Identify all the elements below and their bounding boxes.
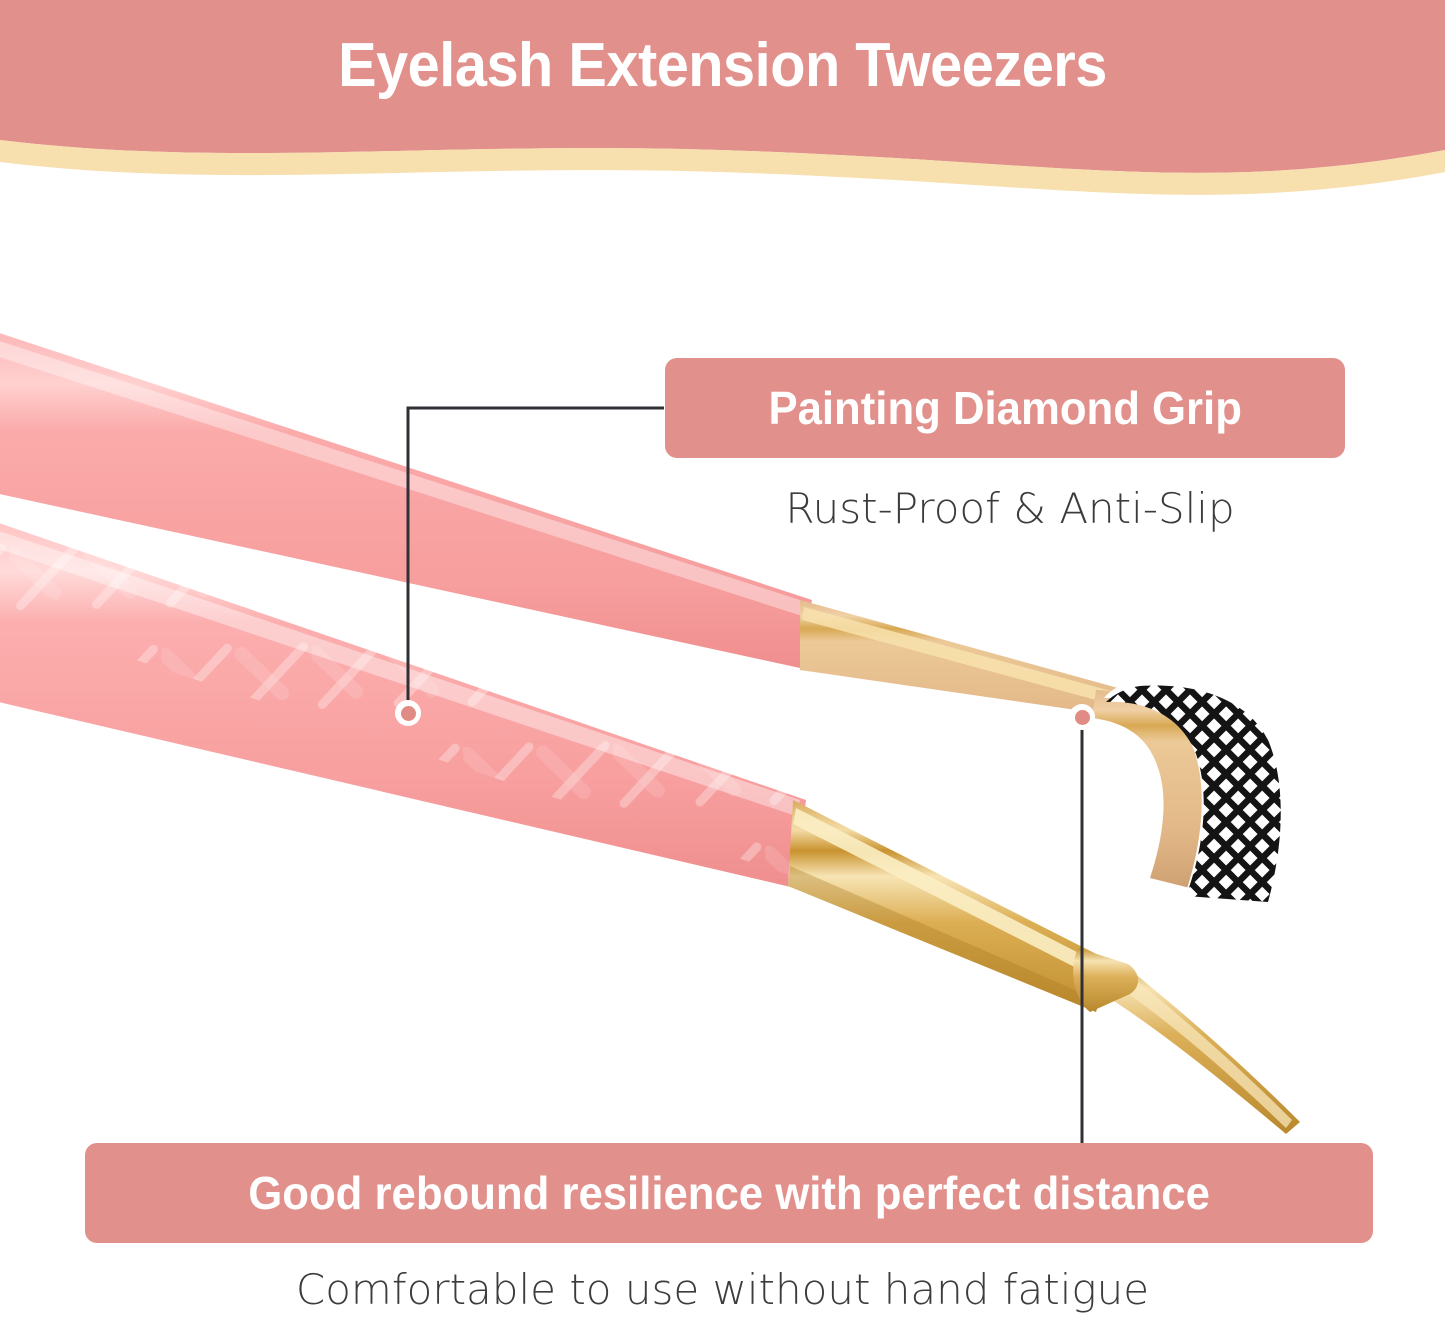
callout-sublabel-rebound: Comfortable to use without hand fatigue [0, 1265, 1445, 1314]
callout-marker-dot-icon [1075, 710, 1090, 725]
callout-pill-rebound: Good rebound resilience with perfect dis… [85, 1143, 1373, 1243]
tweezers-illustration [0, 0, 1445, 1328]
callout-label-rebound: Good rebound resilience with perfect dis… [248, 1166, 1210, 1220]
callout-sublabel-grip: Rust-Proof & Anti-Slip [0, 484, 1445, 533]
callout-marker-dot-icon [401, 706, 416, 721]
callout-marker-rebound[interactable] [1069, 704, 1095, 730]
callout-marker-grip[interactable] [395, 700, 421, 726]
callout-pill-grip: Painting Diamond Grip [665, 358, 1345, 458]
callout-label-grip: Painting Diamond Grip [768, 381, 1241, 435]
infographic-canvas: Eyelash Extension Tweezers [0, 0, 1445, 1328]
